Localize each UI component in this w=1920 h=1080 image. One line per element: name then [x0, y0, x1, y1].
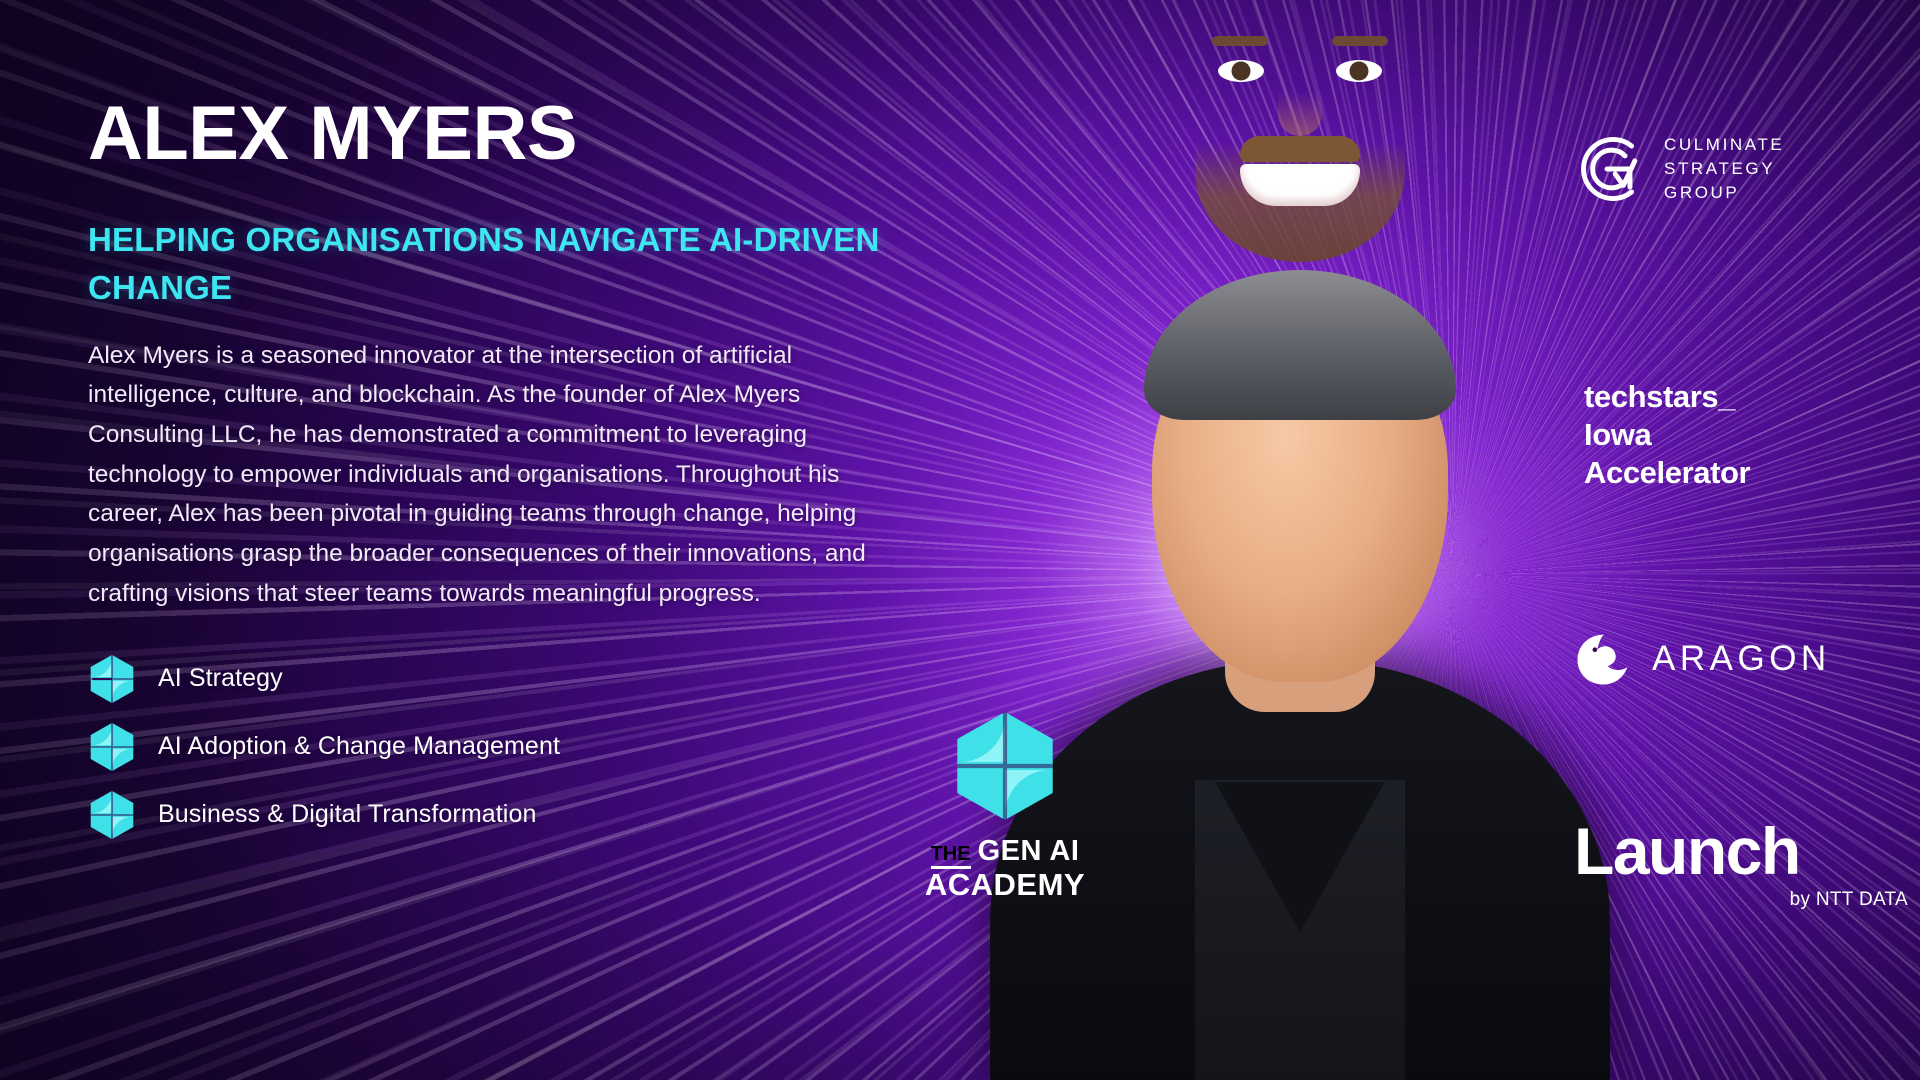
- techstars-line1: techstars_: [1584, 378, 1920, 416]
- portrait-eye-left: [1218, 60, 1264, 82]
- speaker-info-panel: ALEX MYERS HELPING ORGANISATIONS NAVIGAT…: [88, 96, 918, 858]
- gen-ai-hexagon-icon: [88, 654, 136, 704]
- launch-wordmark: Launch: [1574, 820, 1920, 883]
- gen-ai-line2: ACADEMY: [905, 869, 1105, 902]
- avatar: [980, 180, 1620, 1080]
- portrait-smile: [1240, 164, 1360, 206]
- expertise-label: Business & Digital Transformation: [158, 800, 536, 829]
- culminate-wordmark: CULMINATE STRATEGY GROUP: [1664, 133, 1784, 205]
- partner-logo-rail: CULMINATE STRATEGY GROUP techstars_ Iowa…: [1560, 0, 1920, 1080]
- techstars-iowa-accelerator-logo: techstars_ Iowa Accelerator: [1560, 378, 1920, 491]
- gen-ai-hexagon-icon: [88, 722, 136, 772]
- aragon-logo: ARAGON: [1560, 630, 1920, 688]
- launch-byline: by NTT DATA: [1574, 889, 1920, 911]
- gen-ai-academy-logo: THE GEN AI ACADEMY: [905, 710, 1105, 902]
- aragon-wordmark: ARAGON: [1652, 639, 1831, 679]
- culminate-line3: GROUP: [1664, 181, 1784, 205]
- culminate-cg-monogram-icon: [1566, 128, 1648, 210]
- page-title: ALEX MYERS: [88, 96, 918, 172]
- culminate-line1: CULMINATE: [1664, 133, 1784, 157]
- portrait-eye-right: [1336, 60, 1382, 82]
- culminate-strategy-group-logo: CULMINATE STRATEGY GROUP: [1560, 128, 1920, 210]
- techstars-line3: Accelerator: [1584, 454, 1920, 492]
- expertise-label: AI Strategy: [158, 664, 283, 693]
- techstars-line2: Iowa: [1584, 416, 1920, 454]
- culminate-line2: STRATEGY: [1664, 157, 1784, 181]
- speaker-bio-text: Alex Myers is a seasoned innovator at th…: [88, 336, 900, 614]
- portrait-shirt: [1195, 780, 1405, 1080]
- gen-ai-hexagon-icon: [953, 710, 1057, 822]
- portrait-hair: [1144, 270, 1456, 420]
- portrait-brow-left: [1212, 36, 1268, 46]
- portrait-nose: [1278, 92, 1322, 136]
- list-item: AI Adoption & Change Management: [88, 722, 918, 772]
- launch-by-ntt-data-logo: Launch by NTT DATA: [1560, 820, 1920, 911]
- expertise-label: AI Adoption & Change Management: [158, 732, 560, 761]
- portrait-brow-right: [1332, 36, 1388, 46]
- list-item: Business & Digital Transformation: [88, 790, 918, 840]
- speaker-bio-slide: ALEX MYERS HELPING ORGANISATIONS NAVIGAT…: [0, 0, 1920, 1080]
- expertise-list: AI Strategy AI Adoption & Change Managem…: [88, 654, 918, 840]
- gen-ai-hexagon-icon: [88, 790, 136, 840]
- list-item: AI Strategy: [88, 654, 918, 704]
- gen-ai-line1: GEN AI: [978, 836, 1080, 866]
- speaker-headline: HELPING ORGANISATIONS NAVIGATE AI-DRIVEN…: [88, 216, 918, 312]
- gen-ai-the-word: THE: [931, 844, 971, 869]
- portrait-v-neck: [1215, 782, 1385, 932]
- aragon-bird-icon: [1574, 630, 1632, 688]
- portrait-moustache: [1240, 136, 1360, 162]
